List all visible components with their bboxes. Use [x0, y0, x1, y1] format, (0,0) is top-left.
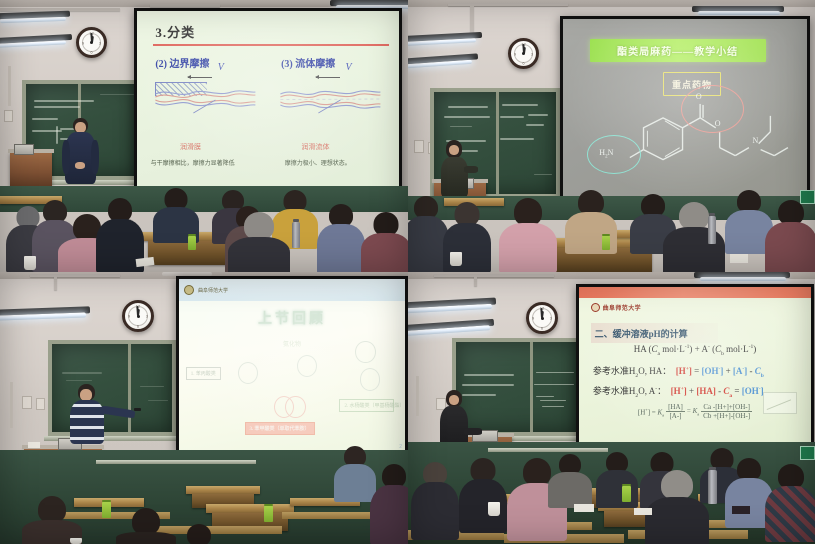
- ceiling-pipe: [30, 274, 120, 277]
- wall-conduit: [10, 382, 13, 428]
- slide-title: 3.分类: [155, 22, 195, 41]
- slide-ester-anesthetic-summary: 酯类局麻药——教学小结 重点药物: [563, 19, 807, 197]
- slide-thumbnail-graphic: [763, 392, 797, 414]
- fraction-1-denominator: [A-]: [667, 412, 683, 420]
- ceiling-pipe: [434, 274, 554, 277]
- audience-member: [118, 508, 174, 544]
- green-tumbler: [264, 506, 273, 522]
- paper-sheet: [730, 254, 748, 263]
- benzene-ring-glyph: [285, 396, 305, 418]
- section-title-bar: 二、缓冲溶液pH的计算: [591, 323, 718, 343]
- wall-socket: [4, 110, 13, 122]
- velocity-label-right: V: [346, 62, 352, 73]
- notebook: [732, 506, 750, 514]
- audience-member: [318, 204, 364, 272]
- desk: [206, 504, 294, 513]
- wall-clock: 123 69: [76, 27, 107, 58]
- audience-member: [24, 496, 80, 544]
- fluorescent-light: [698, 11, 780, 15]
- caption-left: 与干摩擦相比，摩擦力显著降低: [151, 158, 235, 167]
- slide-friction-classification: 3.分类 (2) 边界摩擦 (3) 流体摩擦 V: [137, 11, 399, 195]
- system-line: HA (Ca mol·L-1) + A- (Cb mol·L-1): [579, 344, 811, 357]
- tag-3: 3. 苯甲酸类（单取代苯胺）: [245, 422, 315, 435]
- equation-row-1: 参考水准H2O, HA： [H+] = [OH-] + [A-] - Cb: [593, 364, 764, 379]
- projection-screen: 3.分类 (2) 边界摩擦 (3) 流体摩擦 V: [134, 8, 402, 198]
- audience-member: [372, 464, 408, 544]
- slide-previous-lesson-review: 曲阜师范大学 上节回顾 氨化物 1. 苯丙酸类 2. 水杨酸类（甲基杨酸酯） 3…: [179, 279, 405, 451]
- velocity-label-left: V: [218, 62, 224, 73]
- fraction-2: Ca -[H+]+[OH-] Cb +[H+]-[OH-]: [701, 403, 752, 420]
- tag-2: 2. 水杨酸类（甲基杨酸酯）: [339, 399, 393, 412]
- ceiling-pipe: [474, 276, 477, 286]
- atom-label-h2n: H2N: [599, 148, 613, 160]
- audience-member: [500, 198, 556, 272]
- benzene-ring-glyph: [297, 355, 317, 377]
- wall-socket: [22, 396, 32, 409]
- slide-header-band: 曲阜师范大学: [179, 279, 405, 301]
- paper-cup: [488, 502, 500, 516]
- tag-1: 1. 苯丙酸类: [186, 367, 221, 380]
- slide-title-bar: 酯类局麻药——教学小结: [590, 39, 766, 62]
- slide-title: 上节回顾: [179, 308, 405, 328]
- panel-top-left: 123 69: [0, 0, 408, 272]
- lubricant-label-right: 润滑流体: [302, 142, 330, 152]
- wall-socket: [414, 140, 424, 153]
- university-name: 曲阜师范大学: [198, 287, 228, 294]
- benzene-ring-glyph: [360, 368, 380, 390]
- ester-highlight-circle: [681, 85, 744, 133]
- green-tumbler: [602, 236, 610, 250]
- photo-grid: 123 69: [0, 0, 815, 544]
- thermos-bottle: [708, 216, 716, 244]
- ceiling-pipe: [150, 4, 220, 7]
- slide-title: 酯类局麻药——教学小结: [617, 43, 738, 58]
- equation-1-reference: 参考水准H2O, HA：: [593, 366, 671, 376]
- thermos-bottle: [708, 470, 717, 504]
- paper-cup: [24, 256, 36, 270]
- bench: [282, 512, 382, 519]
- slide-top-bar: [579, 287, 811, 298]
- audience-member: [460, 458, 506, 534]
- atom-label-o-ester: O: [715, 119, 721, 128]
- ceiling-pipe: [448, 3, 568, 6]
- paper-sheet: [574, 504, 594, 512]
- wall-conduit: [416, 376, 419, 416]
- benzene-ring-glyph: [355, 341, 375, 363]
- university-logo-icon: [184, 285, 194, 295]
- paper-sheet: [28, 442, 40, 448]
- wall-clock: 123 69: [508, 38, 539, 69]
- atom-label-o-double: O: [696, 92, 702, 101]
- chalk-tray: [96, 460, 256, 464]
- equation-row-2: 参考水准H2O, A-： [H+] + [HA] - Ca = [OH-]: [593, 384, 764, 399]
- paper-cup: [70, 538, 82, 544]
- panel-top-right: 123 69: [408, 0, 815, 272]
- fraction-1: [HA] [A-]: [666, 403, 685, 420]
- benzene-ring-glyph: [238, 362, 258, 384]
- audience-member: [362, 212, 408, 272]
- university-name: 曲阜师范大学: [603, 303, 641, 312]
- university-brand: 曲阜师范大学: [591, 303, 641, 312]
- fluid-friction-diagram: V: [278, 66, 383, 126]
- presenter-female: [438, 140, 472, 200]
- lubricant-label-left: 润滑膜: [180, 142, 201, 152]
- audience-member: [548, 454, 592, 510]
- wall-clock: 123 69: [526, 302, 558, 334]
- paper-sheet: [634, 508, 652, 515]
- equation-2-reference: 参考水准H2O, A-：: [593, 386, 666, 396]
- green-tumbler: [622, 486, 631, 502]
- audience-member: [766, 464, 815, 542]
- panel-bottom-left: 123 69: [0, 272, 408, 544]
- wall-clock: 123 69: [122, 300, 154, 332]
- presenter-male: [68, 384, 138, 454]
- fraction-2-denominator: Cb +[H+]-[OH-]: [701, 412, 752, 420]
- procaine-structure: O O N H2N: [583, 94, 793, 179]
- desk: [186, 486, 260, 494]
- thermos-bottle: [292, 222, 300, 248]
- boundary-friction-diagram: V: [153, 66, 258, 126]
- section-title: 二、缓冲溶液pH的计算: [595, 329, 688, 339]
- slide-buffer-ph-calculation: 曲阜师范大学 二、缓冲溶液pH的计算 HA (Ca mol·L-1) + A- …: [579, 287, 811, 451]
- audience-member: [334, 446, 376, 500]
- projection-screen: 曲阜师范大学 上节回顾 氨化物 1. 苯丙酸类 2. 水杨酸类（甲基杨酸酯） 3…: [176, 276, 408, 454]
- fraction-2-numerator: Ca -[H+]+[OH-]: [701, 403, 752, 412]
- atom-label-n: N: [752, 136, 758, 145]
- audience-member: [412, 462, 458, 542]
- green-tumbler: [188, 236, 196, 250]
- fluorescent-light: [700, 277, 786, 281]
- laser-pointer: [134, 408, 141, 411]
- audience-member: [176, 524, 222, 544]
- final-lhs: [H+] = Ka: [638, 407, 664, 418]
- laptop: [14, 144, 34, 155]
- wall-conduit: [8, 66, 11, 106]
- title-underline: [153, 44, 389, 46]
- lecture-podium: [10, 152, 52, 186]
- caption-right: 摩擦力极小、理想状态。: [285, 158, 351, 167]
- audience-member: [766, 200, 815, 272]
- wall-socket: [36, 398, 45, 410]
- chalk-tray: [488, 448, 608, 452]
- exit-sign: [800, 446, 815, 460]
- audience-member: [646, 470, 708, 544]
- fluid-surface-waves: [278, 84, 383, 114]
- fraction-1-numerator: [HA]: [666, 403, 685, 412]
- green-tumbler: [102, 502, 111, 518]
- projection-screen: 曲阜师范大学 二、缓冲溶液pH的计算 HA (Ca mol·L-1) + A- …: [576, 284, 814, 454]
- ceiling-pipe: [470, 6, 474, 34]
- audience-member: [408, 196, 448, 272]
- audience-member: [596, 452, 638, 508]
- university-logo-icon: [591, 303, 600, 312]
- ceiling-pipe: [54, 276, 57, 290]
- panel-bottom-right: 123 69: [408, 272, 815, 544]
- paper-cup: [450, 252, 462, 266]
- projection-screen: 酯类局麻药——教学小结 重点药物: [560, 16, 810, 200]
- audience-member: [230, 212, 288, 272]
- amine-highlight-circle: [587, 135, 642, 174]
- final-mid: = Ka: [687, 407, 699, 416]
- friction-surface-waves: [153, 84, 258, 114]
